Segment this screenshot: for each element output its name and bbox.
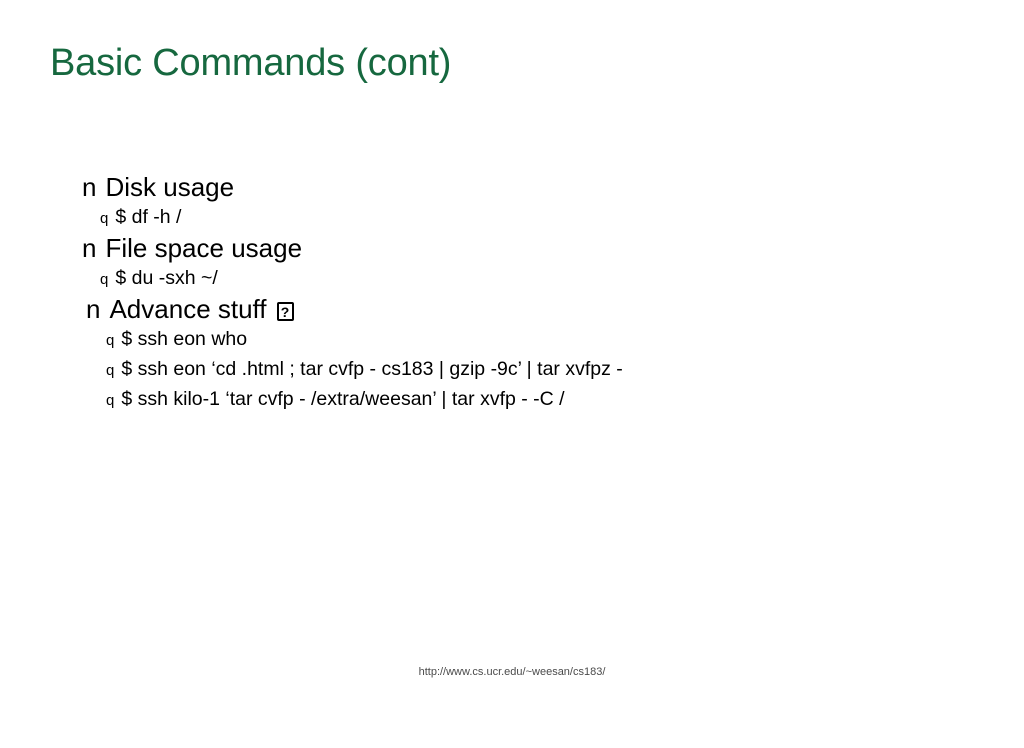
bullet-text: File space usage [105,233,302,264]
bullet-item-level2: q $ du -sxh ~/ [0,264,1024,294]
bullet-marker-level2: q [100,205,108,233]
bullet-item-level2: q $ ssh eon ‘cd .html ; tar cvfp - cs183… [0,355,1024,385]
bullet-item-level1: n Disk usage [0,172,1024,203]
bullet-item-level2: q $ ssh eon who [0,325,1024,355]
bullet-marker-level2: q [106,387,114,415]
command-text: $ ssh eon ‘cd .html ; tar cvfp - cs183 |… [121,355,622,383]
bullet-item-level1: n File space usage [0,233,1024,264]
bullet-text: Disk usage [105,172,234,203]
bullet-list: n Disk usage q $ df -h / n File space us… [0,172,1024,415]
bullet-marker-level1: n [86,294,100,325]
bullet-marker-level1: n [82,172,96,203]
bullet-item-level2: q $ df -h / [0,203,1024,233]
missing-glyph-icon: ? [277,302,294,321]
bullet-marker-level2: q [106,357,114,385]
footer-url: http://www.cs.ucr.edu/~weesan/cs183/ [0,665,1024,679]
bullet-item-level2: q $ ssh kilo-1 ‘tar cvfp - /extra/weesan… [0,385,1024,415]
page-title: Basic Commands (cont) [50,40,451,86]
command-text: $ ssh kilo-1 ‘tar cvfp - /extra/weesan’ … [121,385,564,413]
bullet-marker-level2: q [100,266,108,294]
bullet-item-level1: n Advance stuff ? [0,294,1024,325]
bullet-text: Advance stuff [109,294,266,325]
command-text: $ du -sxh ~/ [115,264,217,292]
command-text: $ ssh eon who [121,325,247,353]
command-text: $ df -h / [115,203,181,231]
bullet-marker-level2: q [106,327,114,355]
bullet-marker-level1: n [82,233,96,264]
slide: Basic Commands (cont) n Disk usage q $ d… [0,0,1024,748]
